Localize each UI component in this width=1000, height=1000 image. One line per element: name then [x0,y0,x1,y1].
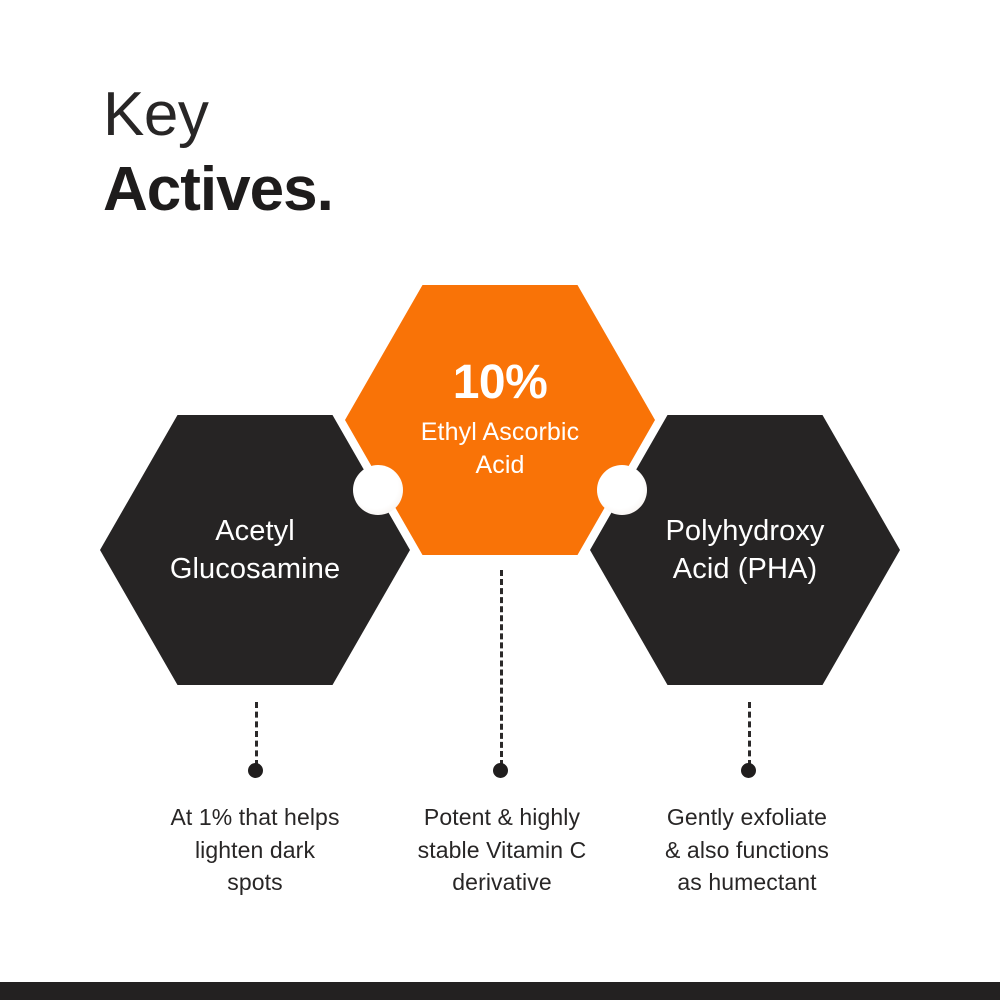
leader-line-center [500,570,503,766]
connector-node-left-icon [353,465,403,515]
leader-dot-left-icon [248,763,263,778]
hexagon-percent-ethyl-ascorbic-acid: 10% [453,359,548,407]
caption-polyhydroxy-acid: Gently exfoliate & also functions as hum… [622,801,872,899]
hexagon-polyhydroxy-acid: Polyhydroxy Acid (PHA) [590,415,900,685]
leader-line-left [255,702,258,766]
leader-line-right [748,702,751,766]
caption-ethyl-ascorbic-acid: Potent & highly stable Vitamin C derivat… [377,801,627,899]
hexagon-ethyl-ascorbic-acid: 10% Ethyl Ascorbic Acid [345,285,655,555]
hexagon-label-polyhydroxy-acid: Polyhydroxy Acid (PHA) [665,512,824,589]
bottom-bar [0,982,1000,1000]
hexagon-acetyl-glucosamine: Acetyl Glucosamine [100,415,410,685]
leader-dot-right-icon [741,763,756,778]
leader-dot-center-icon [493,763,508,778]
caption-acetyl-glucosamine: At 1% that helps lighten dark spots [130,801,380,899]
hexagon-label-ethyl-ascorbic-acid: Ethyl Ascorbic Acid [421,416,579,481]
hexagon-label-acetyl-glucosamine: Acetyl Glucosamine [170,512,340,589]
key-actives-infographic: Key Actives. Acetyl Glucosamine Polyhydr… [0,0,1000,1000]
connector-node-right-icon [597,465,647,515]
